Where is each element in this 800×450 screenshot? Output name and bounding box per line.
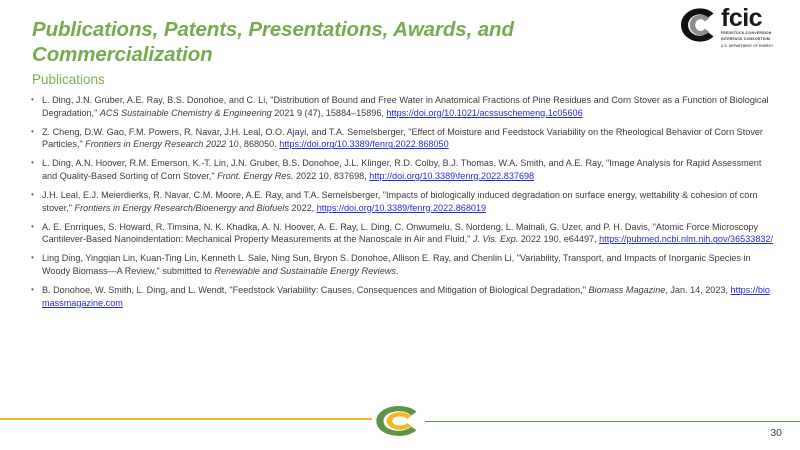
citation-journal-title: ACS Sustainable Chemistry & Engineering xyxy=(100,108,272,118)
citation-text: B. Donohoe, W. Smith, L. Ding, and L. We… xyxy=(42,285,588,295)
publication-item: •L. Ding, J.N. Gruber, A.E. Ray, B.S. Do… xyxy=(30,94,775,119)
bullet-dot-icon: • xyxy=(30,284,42,297)
publication-citation: B. Donohoe, W. Smith, L. Ding, and L. We… xyxy=(42,284,775,309)
fcic-department-label: U.S. DEPARTMENT OF ENERGY xyxy=(721,44,773,48)
bullet-dot-icon: • xyxy=(30,221,42,234)
fcic-tagline-line2: INTERFACE CONSORTIUM xyxy=(721,37,773,42)
citation-text: . xyxy=(396,266,399,276)
publication-citation: Z. Cheng, D.W. Gao, F.M. Powers, R. Nava… xyxy=(42,126,775,151)
page-number: 30 xyxy=(770,427,782,439)
citation-text: 2021 9 (47), 15884–15896, xyxy=(272,108,387,118)
bullet-dot-icon: • xyxy=(30,94,42,107)
bullet-dot-icon: • xyxy=(30,126,42,139)
publication-item: •B. Donohoe, W. Smith, L. Ding, and L. W… xyxy=(30,284,775,309)
citation-text: 2022, xyxy=(289,203,317,213)
publication-item: •Z. Cheng, D.W. Gao, F.M. Powers, R. Nav… xyxy=(30,126,775,151)
publication-item: •J.H. Leal, E.J. Meierdierks, R. Navar, … xyxy=(30,189,775,214)
publications-list: •L. Ding, J.N. Gruber, A.E. Ray, B.S. Do… xyxy=(30,94,775,316)
footer-rule-left xyxy=(0,418,372,420)
fcic-eye-icon xyxy=(680,6,720,44)
publication-item: •Ling Ding, Yingqian Lin, Kuan-Ting Lin,… xyxy=(30,252,775,277)
citation-text: 10, 868050. xyxy=(226,139,279,149)
publication-item: •L. Ding, A.N. Hoover, R.M. Emerson, K.-… xyxy=(30,157,775,182)
footer-rule-right xyxy=(425,421,800,422)
bullet-dot-icon: • xyxy=(30,157,42,170)
citation-journal-title: Frontiers in Energy Research/Bioenergy a… xyxy=(75,203,289,213)
publication-citation: L. Ding, A.N. Hoover, R.M. Emerson, K.-T… xyxy=(42,157,775,182)
bullet-dot-icon: • xyxy=(30,252,42,265)
citation-journal-title: Biomass Magazine xyxy=(588,285,665,295)
citation-link[interactable]: https://doi.org/10.3389/fenrg.2022.86805… xyxy=(279,139,448,149)
citation-journal-title: Renewable and Sustainable Energy Reviews xyxy=(214,266,395,276)
publication-citation: Ling Ding, Yingqian Lin, Kuan-Ting Lin, … xyxy=(42,252,775,277)
section-heading-publications: Publications xyxy=(32,72,105,87)
citation-link[interactable]: http://doi.org/10.3389\fenrg.2022.837698 xyxy=(369,171,534,181)
citation-text: 2022 10, 837698, xyxy=(293,171,369,181)
fcic-logo: fcic FEEDSTOCK-CONVERSION INTERFACE CONS… xyxy=(680,6,792,54)
fcic-wordmark: fcic xyxy=(721,7,773,30)
citation-journal-title: Front. Energy Res. xyxy=(217,171,293,181)
citation-link[interactable]: https://doi.org/10.1021/acssuschemeng.1c… xyxy=(386,108,582,118)
footer-leaf-icon xyxy=(373,404,425,438)
publication-citation: L. Ding, J.N. Gruber, A.E. Ray, B.S. Don… xyxy=(42,94,775,119)
publication-item: •A. E. Enrriques, S. Howard, R. Timsina,… xyxy=(30,221,775,246)
citation-text: 2022 190, e64497, xyxy=(518,234,599,244)
publication-citation: A. E. Enrriques, S. Howard, R. Timsina, … xyxy=(42,221,775,246)
citation-journal-title: Frontiers in Energy Research 2022 xyxy=(85,139,226,149)
fcic-logo-text: fcic FEEDSTOCK-CONVERSION INTERFACE CONS… xyxy=(721,6,773,49)
citation-link[interactable]: https://doi.org/10.3389/fenrg.2022.86801… xyxy=(317,203,486,213)
citation-link[interactable]: https://pubmed.ncbi.nlm.nih.gov/36533832… xyxy=(599,234,773,244)
slide-canvas: fcic FEEDSTOCK-CONVERSION INTERFACE CONS… xyxy=(0,0,800,450)
citation-text: , Jan. 14, 2023, xyxy=(665,285,730,295)
citation-journal-title: J. Vis. Exp. xyxy=(473,234,518,244)
slide-title: Publications, Patents, Presentations, Aw… xyxy=(32,17,652,67)
fcic-tagline-line1: FEEDSTOCK-CONVERSION xyxy=(721,31,773,36)
publication-citation: J.H. Leal, E.J. Meierdierks, R. Navar, C… xyxy=(42,189,775,214)
bullet-dot-icon: • xyxy=(30,189,42,202)
